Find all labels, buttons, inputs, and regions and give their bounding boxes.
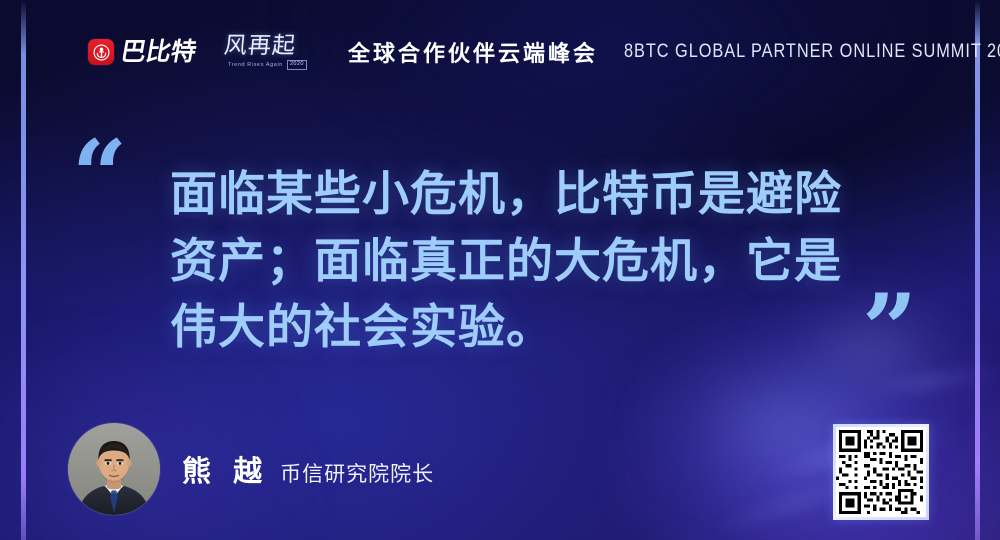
quote-text: 面临某些小危机，比特币是避险 资产；面临真正的大危机，它是 伟大的社会实验。 xyxy=(170,162,890,362)
quote-line: 面临某些小危机，比特币是避险 xyxy=(170,162,890,229)
light-rail-right xyxy=(975,0,980,540)
quote-line: 资产；面临真正的大危机，它是 xyxy=(170,229,890,296)
summit-quote-card: 巴比特 风再起 Trend Rises Again 2020 全球合作伙伴云端峰… xyxy=(0,0,1000,540)
background-glow-top xyxy=(300,0,920,150)
slogan-subline: Trend Rises Again 2020 xyxy=(228,60,324,70)
speaker-name: 熊 越 xyxy=(182,448,268,490)
speaker-portrait xyxy=(68,423,160,515)
summit-slogan: 风再起 Trend Rises Again 2020 xyxy=(224,34,324,70)
qr-code-frame[interactable] xyxy=(833,424,929,520)
quote-line: 伟大的社会实验。 xyxy=(170,295,890,362)
slogan-year-badge: 2020 xyxy=(287,60,307,70)
quote-close-mark: ” xyxy=(862,282,917,378)
summit-title-chinese: 全球合作伙伴云端峰会 xyxy=(348,36,598,68)
speaker-title: 币信研究院院长 xyxy=(280,458,434,488)
qr-code-icon[interactable] xyxy=(836,427,926,517)
speaker-block: 熊 越 币信研究院院长 xyxy=(68,423,434,515)
header-bar: 巴比特 风再起 Trend Rises Again 2020 全球合作伙伴云端峰… xyxy=(88,32,1000,72)
summit-title-english: 8BTC GLOBAL PARTNER ONLINE SUMMIT 2020 xyxy=(624,41,1000,63)
slogan-chinese: 风再起 xyxy=(223,34,325,57)
8btc-wordmark: 巴比特 xyxy=(119,40,198,65)
slogan-english: Trend Rises Again xyxy=(228,62,283,68)
8btc-anchor-icon xyxy=(88,39,114,65)
light-rail-left xyxy=(21,0,26,540)
quote-open-mark: “ xyxy=(72,128,127,224)
speaker-identity: 熊 越 币信研究院院长 xyxy=(182,448,434,490)
